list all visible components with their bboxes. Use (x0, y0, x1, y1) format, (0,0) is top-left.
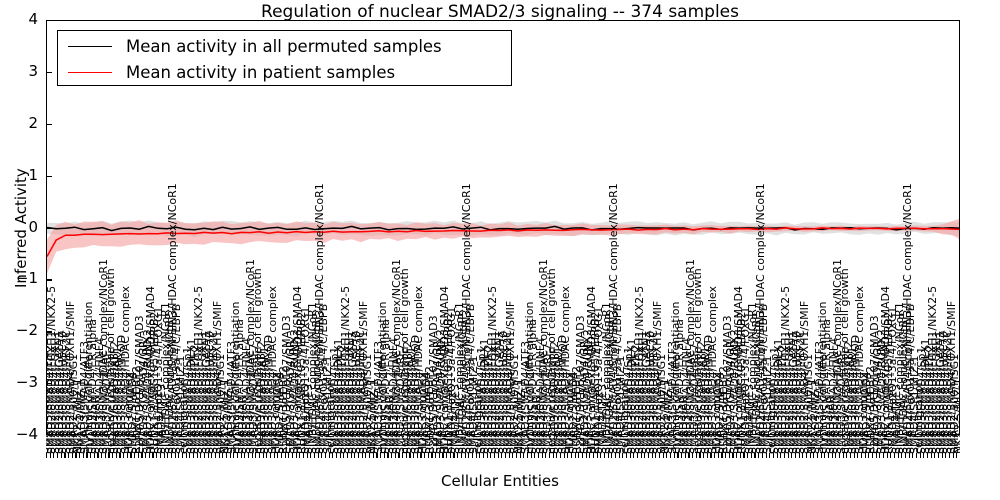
chart-legend: Mean activity in all permuted samples Me… (57, 30, 512, 86)
x-tick-mark (751, 453, 752, 458)
x-tick-mark (248, 453, 249, 458)
chart-title: Regulation of nuclear SMAD2/3 signaling … (0, 2, 1000, 22)
x-tick-mark (498, 453, 499, 458)
x-tick-mark (545, 453, 546, 458)
x-tick-mark (314, 453, 315, 458)
x-tick-mark (384, 453, 385, 458)
y-tick-label: −3 (0, 373, 38, 391)
x-tick-mark (101, 453, 102, 458)
x-tick-mark (369, 453, 370, 458)
x-tick-mark (387, 453, 388, 458)
x-tick-mark (167, 453, 168, 458)
x-tick-mark (586, 453, 587, 458)
x-tick-mark (417, 453, 418, 458)
x-tick-mark (413, 453, 414, 458)
y-tick-label: 2 (0, 114, 38, 132)
x-tick-mark (266, 453, 267, 458)
x-tick-mark (813, 453, 814, 458)
x-tick-mark (681, 453, 682, 458)
x-tick-mark (597, 453, 598, 458)
x-tick-mark (472, 453, 473, 458)
x-tick-mark (916, 453, 917, 458)
legend-swatch-permuted (68, 46, 112, 47)
x-tick-mark (310, 453, 311, 458)
x-tick-mark (340, 453, 341, 458)
x-tick-mark (156, 453, 157, 458)
x-tick-mark (468, 453, 469, 458)
y-tick-mark (46, 72, 52, 73)
x-tick-mark (861, 453, 862, 458)
x-tick-mark (575, 453, 576, 458)
x-tick-mark (329, 453, 330, 458)
x-tick-mark (204, 453, 205, 458)
x-tick-mark (791, 453, 792, 458)
x-tick-mark (428, 453, 429, 458)
x-tick-mark (707, 453, 708, 458)
x-tick-mark (743, 453, 744, 458)
figure-canvas: Regulation of nuclear SMAD2/3 signaling … (0, 0, 1000, 500)
x-tick-mark (641, 453, 642, 458)
x-tick-mark (208, 453, 209, 458)
x-tick-mark (79, 453, 80, 458)
x-tick-mark (810, 453, 811, 458)
x-tick-mark (435, 453, 436, 458)
x-tick-mark (648, 453, 649, 458)
x-tick-mark (578, 453, 579, 458)
x-tick-mark (927, 453, 928, 458)
x-tick-mark (567, 453, 568, 458)
x-tick-mark (138, 453, 139, 458)
x-tick-mark (571, 453, 572, 458)
x-tick-mark (890, 453, 891, 458)
x-axis-label: Cellular Entities (0, 472, 1000, 490)
x-tick-mark (622, 453, 623, 458)
x-tick-mark (141, 453, 142, 458)
x-tick-mark (402, 453, 403, 458)
legend-entry-permuted: Mean activity in all permuted samples (68, 33, 442, 59)
x-tick-mark (299, 453, 300, 458)
x-tick-mark (857, 453, 858, 458)
x-tick-mark (920, 453, 921, 458)
x-tick-mark (325, 453, 326, 458)
x-tick-mark (424, 453, 425, 458)
x-tick-mark (795, 453, 796, 458)
x-tick-mark (130, 453, 131, 458)
x-tick-mark (934, 453, 935, 458)
x-tick-mark (725, 453, 726, 458)
x-tick-mark (832, 453, 833, 458)
x-tick-mark (490, 453, 491, 458)
x-tick-mark (714, 453, 715, 458)
x-tick-mark (626, 453, 627, 458)
y-tick-mark (46, 279, 52, 280)
x-tick-mark (608, 453, 609, 458)
x-tick-mark (828, 453, 829, 458)
x-tick-mark (391, 453, 392, 458)
legend-label-permuted: Mean activity in all permuted samples (126, 37, 442, 56)
x-tick-mark (119, 453, 120, 458)
x-tick-mark (420, 453, 421, 458)
x-tick-mark (252, 453, 253, 458)
confidence-bands (47, 218, 960, 273)
x-tick-mark (655, 453, 656, 458)
x-tick-mark (171, 453, 172, 458)
x-tick-mark (721, 453, 722, 458)
x-tick-mark (865, 453, 866, 458)
x-tick-mark (453, 453, 454, 458)
x-tick-mark (237, 453, 238, 458)
x-tick-mark (112, 453, 113, 458)
x-tick-mark (61, 453, 62, 458)
x-tick-mark (824, 453, 825, 458)
x-tick-mark (512, 453, 513, 458)
x-tick-mark (72, 453, 73, 458)
x-tick-mark (531, 453, 532, 458)
x-tick-mark (215, 453, 216, 458)
x-tick-mark (769, 453, 770, 458)
x-tick-mark (274, 453, 275, 458)
x-tick-mark (931, 453, 932, 458)
x-tick-mark (46, 453, 47, 458)
x-tick-mark (788, 453, 789, 458)
x-tick-mark (288, 453, 289, 458)
x-tick-mark (883, 453, 884, 458)
x-tick-mark (630, 453, 631, 458)
x-tick-mark (600, 453, 601, 458)
x-tick-mark (457, 453, 458, 458)
x-tick-mark (868, 453, 869, 458)
x-tick-mark (398, 453, 399, 458)
y-tick-label: 0 (0, 218, 38, 236)
x-tick-mark (292, 453, 293, 458)
x-tick-mark (277, 453, 278, 458)
x-tick-mark (523, 453, 524, 458)
x-tick-mark (644, 453, 645, 458)
x-tick-mark (152, 453, 153, 458)
x-tick-mark (57, 453, 58, 458)
x-tick-mark (633, 453, 634, 458)
x-tick-mark (718, 453, 719, 458)
x-tick-mark (780, 453, 781, 458)
x-tick-mark (615, 453, 616, 458)
x-tick-mark (637, 453, 638, 458)
x-tick-mark (127, 453, 128, 458)
x-tick-mark (501, 453, 502, 458)
x-tick-mark (879, 453, 880, 458)
x-tick-mark (64, 453, 65, 458)
x-tick-mark (409, 453, 410, 458)
x-tick-mark (839, 453, 840, 458)
x-tick-mark (872, 453, 873, 458)
x-tick-mark (766, 453, 767, 458)
x-tick-mark (619, 453, 620, 458)
x-tick-mark (186, 453, 187, 458)
x-tick-mark (747, 453, 748, 458)
x-tick-mark (923, 453, 924, 458)
x-tick-mark (846, 453, 847, 458)
x-tick-mark (942, 453, 943, 458)
x-tick-mark (670, 453, 671, 458)
x-tick-mark (465, 453, 466, 458)
x-tick-mark (307, 453, 308, 458)
x-tick-mark (520, 453, 521, 458)
x-tick-mark (758, 453, 759, 458)
x-tick-mark (182, 453, 183, 458)
x-tick-mark (685, 453, 686, 458)
x-tick-mark (332, 453, 333, 458)
x-tick-mark (358, 453, 359, 458)
x-tick-mark (145, 453, 146, 458)
confidence-band (47, 218, 960, 273)
x-tick-mark (589, 453, 590, 458)
x-tick-mark (476, 453, 477, 458)
x-tick-mark (296, 453, 297, 458)
x-tick-mark (556, 453, 557, 458)
x-tick-mark (732, 453, 733, 458)
x-tick-mark (938, 453, 939, 458)
x-tick-mark (494, 453, 495, 458)
x-tick-mark (736, 453, 737, 458)
x-tick-mark (799, 453, 800, 458)
x-tick-mark (956, 453, 957, 458)
x-tick-mark (611, 453, 612, 458)
x-tick-mark (692, 453, 693, 458)
x-tick-mark (854, 453, 855, 458)
x-tick-mark (534, 453, 535, 458)
x-tick-mark (164, 453, 165, 458)
x-tick-mark (222, 453, 223, 458)
x-tick-mark (193, 453, 194, 458)
x-tick-mark (123, 453, 124, 458)
x-tick-mark (97, 453, 98, 458)
x-tick-mark (244, 453, 245, 458)
x-tick-mark (821, 453, 822, 458)
x-tick-mark (549, 453, 550, 458)
legend-label-patient: Mean activity in patient samples (126, 63, 395, 82)
x-tick-mark (380, 453, 381, 458)
x-tick-mark (887, 453, 888, 458)
x-tick-mark (505, 453, 506, 458)
x-tick-mark (909, 453, 910, 458)
y-tick-mark (46, 383, 52, 384)
x-tick-mark (281, 453, 282, 458)
y-tick-mark (46, 124, 52, 125)
x-tick-mark (806, 453, 807, 458)
x-tick-mark (703, 453, 704, 458)
x-tick-mark (446, 453, 447, 458)
x-tick-mark (270, 453, 271, 458)
x-tick-mark (94, 453, 95, 458)
x-tick-mark (509, 453, 510, 458)
x-tick-mark (450, 453, 451, 458)
x-tick-mark (710, 453, 711, 458)
y-tick-label: −2 (0, 321, 38, 339)
x-tick-mark (336, 453, 337, 458)
x-tick-mark (373, 453, 374, 458)
x-tick-mark (538, 453, 539, 458)
x-tick-mark (255, 453, 256, 458)
x-tick-mark (178, 453, 179, 458)
y-tick-mark (46, 176, 52, 177)
x-tick-mark (901, 453, 902, 458)
x-tick-mark (395, 453, 396, 458)
x-tick-mark (666, 453, 667, 458)
x-tick-mark (784, 453, 785, 458)
y-tick-label: 4 (0, 10, 38, 28)
x-tick-mark (652, 453, 653, 458)
x-tick-mark (894, 453, 895, 458)
x-tick-mark (108, 453, 109, 458)
x-tick-mark (487, 453, 488, 458)
x-tick-mark (406, 453, 407, 458)
x-tick-mark (754, 453, 755, 458)
x-tick-mark (527, 453, 528, 458)
x-tick-mark (362, 453, 363, 458)
x-tick-mark (53, 453, 54, 458)
x-tick-mark (483, 453, 484, 458)
x-tick-mark (226, 453, 227, 458)
x-tick-mark (729, 453, 730, 458)
y-tick-label: 1 (0, 166, 38, 184)
x-tick-mark (197, 453, 198, 458)
x-tick-mark (582, 453, 583, 458)
x-tick-mark (354, 453, 355, 458)
x-tick-mark (365, 453, 366, 458)
x-tick-mark (347, 453, 348, 458)
x-tick-mark (259, 453, 260, 458)
x-tick-mark (219, 453, 220, 458)
x-tick-mark (843, 453, 844, 458)
legend-entry-patient: Mean activity in patient samples (68, 59, 395, 85)
x-tick-mark (542, 453, 543, 458)
x-tick-mark (431, 453, 432, 458)
x-tick-mark (75, 453, 76, 458)
x-tick-mark (802, 453, 803, 458)
x-tick-mark (688, 453, 689, 458)
x-tick-mark (285, 453, 286, 458)
x-tick-mark (659, 453, 660, 458)
x-tick-mark (321, 453, 322, 458)
x-tick-mark (351, 453, 352, 458)
x-tick-mark (376, 453, 377, 458)
x-tick-mark (263, 453, 264, 458)
x-tick-mark (200, 453, 201, 458)
x-tick-mark (593, 453, 594, 458)
x-tick-mark (876, 453, 877, 458)
x-tick-mark (699, 453, 700, 458)
x-tick-mark (677, 453, 678, 458)
x-tick-mark (740, 453, 741, 458)
x-tick-mark (241, 453, 242, 458)
x-tick-mark (696, 453, 697, 458)
x-tick-mark (175, 453, 176, 458)
x-tick-mark (905, 453, 906, 458)
x-tick-mark (318, 453, 319, 458)
y-tick-label: 3 (0, 62, 38, 80)
x-tick-mark (898, 453, 899, 458)
x-tick-mark (564, 453, 565, 458)
x-tick-mark (230, 453, 231, 458)
y-tick-mark (46, 228, 52, 229)
x-tick-mark (777, 453, 778, 458)
x-tick-mark (953, 453, 954, 458)
x-tick-mark (560, 453, 561, 458)
x-tick-mark (189, 453, 190, 458)
x-tick-mark (68, 453, 69, 458)
x-tick-mark (233, 453, 234, 458)
x-tick-mark (343, 453, 344, 458)
x-tick-mark (663, 453, 664, 458)
x-tick-mark (83, 453, 84, 458)
x-tick-mark (105, 453, 106, 458)
x-tick-mark (773, 453, 774, 458)
x-tick-mark (762, 453, 763, 458)
x-tick-mark (211, 453, 212, 458)
x-tick-mark (439, 453, 440, 458)
x-tick-mark (835, 453, 836, 458)
x-tick-mark (817, 453, 818, 458)
x-tick-mark (604, 453, 605, 458)
x-tick-mark (86, 453, 87, 458)
x-tick-mark (912, 453, 913, 458)
x-tick-mark (149, 453, 150, 458)
x-tick-mark (674, 453, 675, 458)
x-tick-mark (479, 453, 480, 458)
y-tick-label: −4 (0, 425, 38, 443)
legend-swatch-patient (68, 72, 112, 73)
x-tick-mark (945, 453, 946, 458)
x-tick-mark (949, 453, 950, 458)
x-tick-mark (461, 453, 462, 458)
x-tick-mark (850, 453, 851, 458)
x-tick-mark (160, 453, 161, 458)
x-tick-mark (90, 453, 91, 458)
x-tick-mark (303, 453, 304, 458)
y-tick-label: −1 (0, 269, 38, 287)
x-tick-mark (116, 453, 117, 458)
x-tick-mark (516, 453, 517, 458)
y-tick-mark (46, 331, 52, 332)
x-tick-mark (442, 453, 443, 458)
x-tick-mark (134, 453, 135, 458)
x-tick-mark (50, 453, 51, 458)
x-tick-mark (553, 453, 554, 458)
